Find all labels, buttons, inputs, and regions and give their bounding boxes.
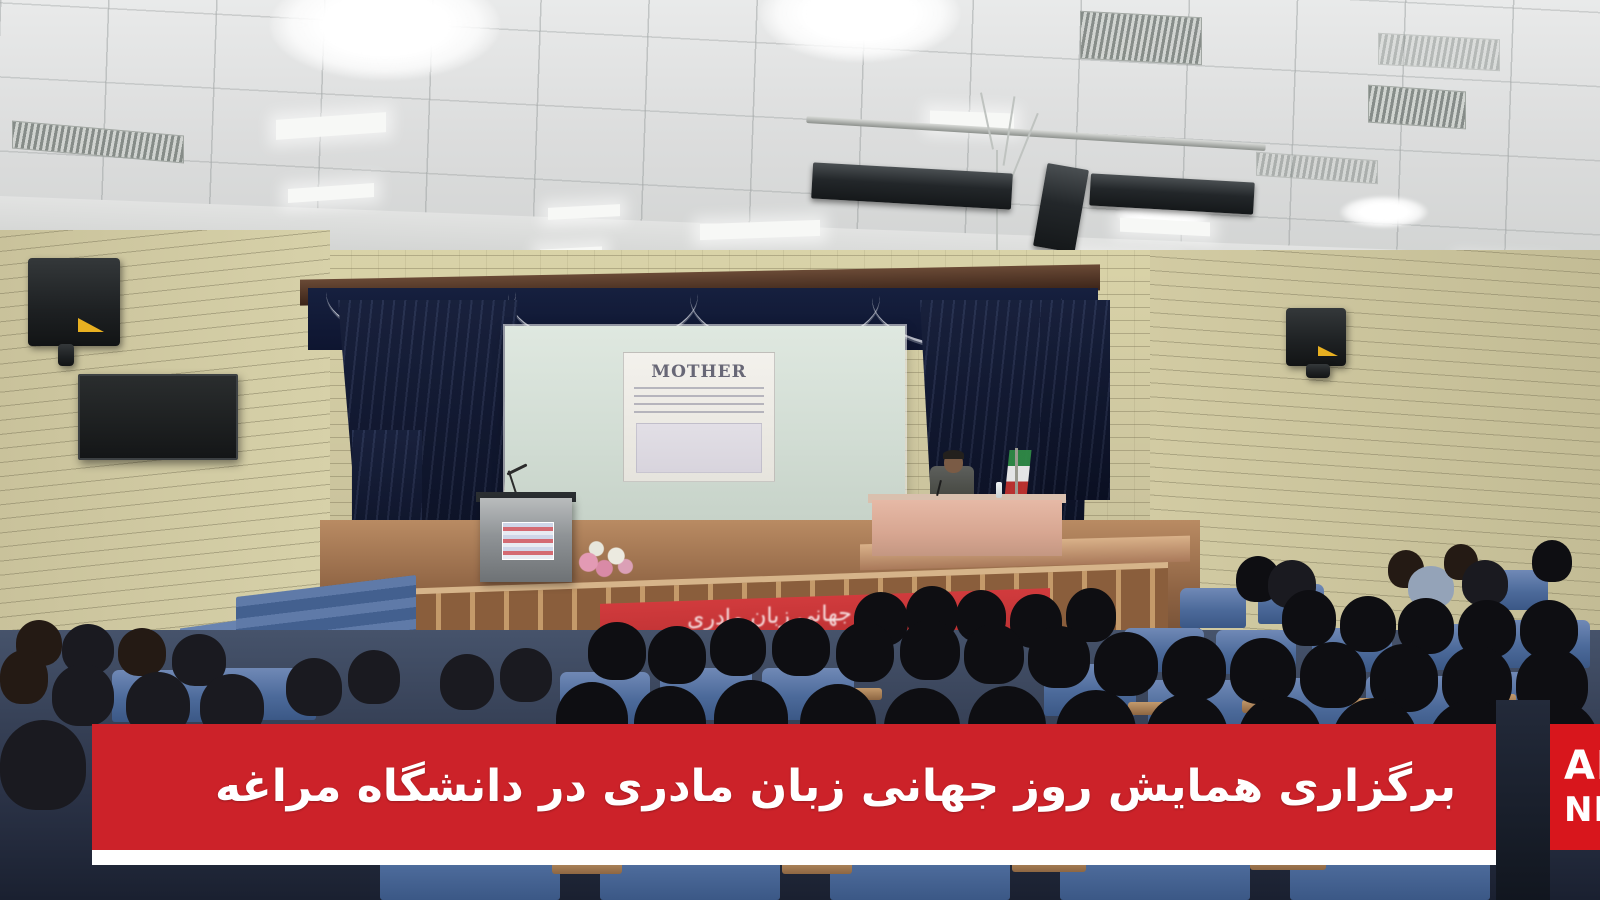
left-speaker-accent-icon	[78, 318, 104, 332]
wall-monitor-icon	[78, 374, 238, 460]
air-vent-icon	[1378, 33, 1500, 71]
head-table-cloth	[872, 500, 1062, 556]
banner-gap	[1496, 700, 1550, 900]
audience-member	[1532, 540, 1572, 582]
air-vent-icon	[1368, 85, 1466, 130]
news-headline: برگزاری همایش روز جهانی زبان مادری در دا…	[215, 762, 1456, 813]
news-caption-bar: برگزاری همایش روز جهانی زبان مادری در دا…	[92, 724, 1496, 850]
audience-member	[52, 664, 114, 726]
water-bottle	[996, 482, 1002, 498]
audience-member	[836, 622, 894, 682]
audience-member	[348, 650, 400, 704]
seated-speaker-hair	[943, 450, 964, 459]
audience-member	[1282, 590, 1336, 646]
audience-member	[500, 648, 552, 702]
audience-member	[1094, 632, 1158, 696]
flower-arrangement	[570, 530, 636, 582]
audience-member	[588, 622, 646, 680]
auditorium-photograph: MOTHER همایش روز جهانی زبان مادری	[0, 0, 1600, 900]
news-logo: AR NE	[1550, 724, 1600, 850]
audience-member	[648, 626, 706, 684]
audience-seat	[1180, 588, 1246, 628]
audience-member	[440, 654, 494, 710]
left-speaker-bracket	[58, 344, 74, 366]
ceiling-light-icon	[1340, 196, 1428, 228]
right-speaker-accent-icon	[1318, 346, 1338, 356]
audience-member	[0, 650, 48, 704]
news-photo-screenshot: MOTHER همایش روز جهانی زبان مادری	[0, 0, 1600, 900]
audience-member	[1162, 636, 1226, 700]
audience-member	[710, 618, 766, 676]
audience-member	[1028, 626, 1090, 688]
audience-member	[1300, 642, 1366, 708]
audience-member	[964, 624, 1024, 684]
podium-placard	[502, 522, 554, 560]
audience-member	[1230, 638, 1296, 704]
right-speaker-bracket	[1306, 364, 1330, 378]
audience-member	[1340, 596, 1396, 652]
news-logo-line1: AR	[1564, 746, 1600, 786]
audience-member	[772, 618, 830, 676]
air-vent-icon	[1080, 11, 1202, 65]
audience-member	[0, 720, 86, 810]
slide-image	[636, 423, 762, 473]
right-wall-speaker-icon	[1286, 308, 1346, 366]
stage-curtain-far-right	[1040, 300, 1110, 500]
projected-slide: MOTHER	[623, 352, 775, 482]
audience-member	[900, 620, 960, 680]
news-logo-line2: NE	[1564, 790, 1600, 830]
audience-member	[118, 628, 166, 676]
news-caption-underline	[92, 850, 1496, 865]
slide-title: MOTHER	[632, 361, 766, 383]
left-wall-speaker-icon	[28, 258, 120, 346]
audience-member	[286, 658, 342, 716]
slide-text-lines	[634, 387, 764, 417]
